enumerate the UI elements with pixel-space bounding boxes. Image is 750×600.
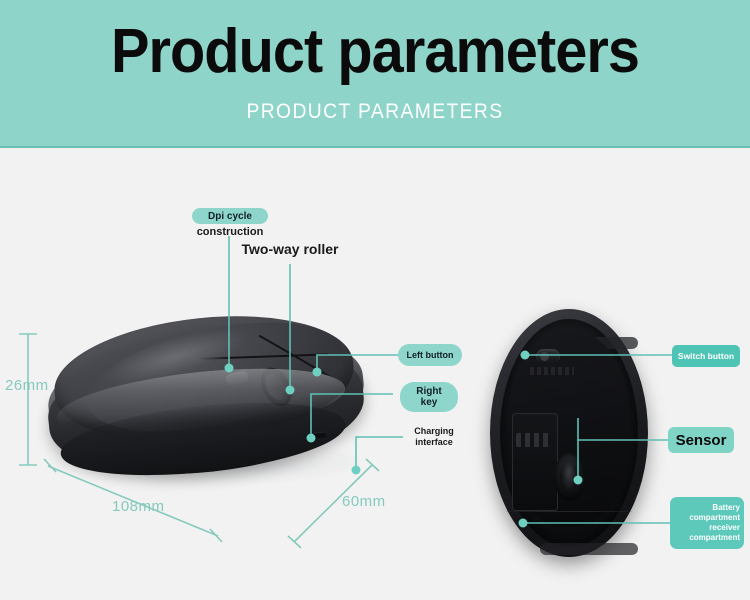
power-switch [536,349,560,364]
sensor-lens [560,462,578,492]
callout-dpi-construction: construction [182,227,278,238]
page-title: Product parameters [26,20,724,84]
callout-battery-compartment[interactable]: Battery compartment receiver compartment [670,497,744,549]
page-header: Product parameters PRODUCT PARAMETERS [0,0,750,148]
callout-charging-interface: Charging interface [403,426,465,448]
callout-right-key-line1: Right [416,386,442,397]
battery-compartment-door [512,413,558,511]
callout-charging-line1: Charging [403,426,465,437]
battery-compartment-marking [516,433,552,447]
callout-right-key-line2: key [421,397,438,408]
callout-battery-line4: compartment [689,533,740,543]
mouse-top-view-image [40,310,370,500]
callout-left-button[interactable]: Left button [398,344,462,366]
dimension-cap-length-end [210,529,222,542]
callout-two-way-roller: Two-way roller [228,244,352,255]
callout-right-key[interactable]: Right key [400,382,458,412]
switch-marking-text [530,367,574,375]
callout-switch-button[interactable]: Switch button [672,345,740,367]
power-switch-knob [540,352,549,361]
dimension-label-length: 108mm [112,498,165,515]
dimension-cap-width-end [288,536,301,548]
dimension-label-height: 26mm [5,377,49,394]
callout-sensor[interactable]: Sensor [668,427,734,453]
page-subtitle: PRODUCT PARAMETERS [30,100,720,124]
product-parameters-infographic: Product parameters PRODUCT PARAMETERS [0,0,750,600]
callout-dpi-cycle[interactable]: Dpi cycle [192,208,268,224]
glide-pad-bottom [540,543,638,555]
callout-battery-line3: receiver [709,523,740,533]
mouse-bottom-view-image [480,305,660,565]
callout-charging-line2: interface [403,437,465,448]
bottom-seam-line [506,511,632,512]
dimension-label-width: 60mm [342,493,386,510]
callout-battery-line2: compartment [689,513,740,523]
callout-battery-line1: Battery [712,503,740,513]
sensor-recess [554,453,584,501]
